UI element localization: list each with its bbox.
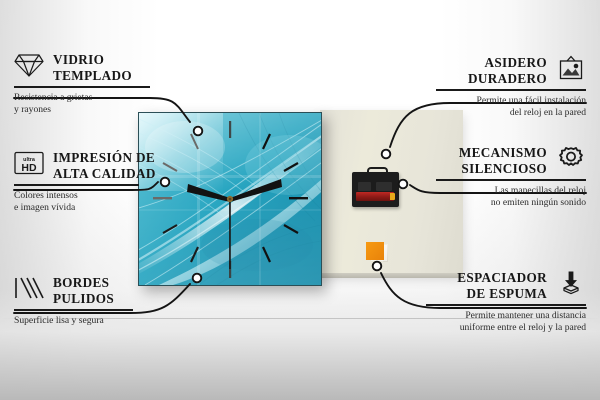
feature-title-line1: ASIDERO xyxy=(468,55,547,71)
feature-divider xyxy=(426,304,586,306)
feature-desc-line1: Superficie lisa y segura xyxy=(14,315,164,327)
feature-divider xyxy=(436,89,586,91)
feature-title-line1: BORDES xyxy=(53,275,114,291)
connector-dot-vidrio-templado xyxy=(194,127,203,136)
connector-dot-mecanismo xyxy=(399,180,408,189)
polished-edges-icon xyxy=(14,275,44,306)
feature-divider xyxy=(14,309,133,311)
feature-title-line2: DE ESPUMA xyxy=(457,286,547,302)
ultra-hd-icon: ultra HD xyxy=(14,150,44,181)
feature-desc-line2: del reloj en la pared xyxy=(436,107,586,119)
feature-desc-line2: e imagen vívida xyxy=(14,202,164,214)
feature-title-line2: ALTA CALIDAD xyxy=(53,166,156,182)
feature-bordes-pulidos: BORDES PULIDOS Superficie lisa y segura xyxy=(14,275,164,327)
feature-title-line2: DURADERO xyxy=(468,71,547,87)
feature-heading: BORDES PULIDOS xyxy=(14,275,164,306)
wall-hanger-frame-icon xyxy=(556,55,586,86)
feature-title-line1: MECANISMO xyxy=(459,145,547,161)
feature-heading: VIDRIO TEMPLADO xyxy=(14,52,164,83)
feature-espaciador-de-espuma: ESPACIADOR DE ESPUMA Permite mantener un… xyxy=(426,270,586,334)
feature-title-line2: TEMPLADO xyxy=(53,68,132,84)
feature-heading: MECANISMO SILENCIOSO xyxy=(436,145,586,176)
connector-dot-asidero xyxy=(382,150,391,159)
feature-title-line2: SILENCIOSO xyxy=(459,161,547,177)
feature-heading: ultra HD IMPRESIÓN DE ALTA CALIDAD xyxy=(14,150,164,181)
connector-dot-espaciador xyxy=(373,262,382,271)
foam-spacer-arrow-icon xyxy=(556,270,586,301)
gear-icon xyxy=(556,145,586,176)
feature-asidero-duradero: ASIDERO DURADERO Permite una fácil insta… xyxy=(436,55,586,119)
feature-desc-line2: no emiten ningún sonido xyxy=(436,197,586,209)
diamond-icon xyxy=(14,52,44,83)
svg-text:HD: HD xyxy=(21,162,37,174)
feature-desc-line1: Las manecillas del reloj xyxy=(436,185,586,197)
feature-divider xyxy=(14,184,139,186)
feature-impresion-alta-calidad: ultra HD IMPRESIÓN DE ALTA CALIDAD Color… xyxy=(14,150,164,214)
feature-title-line1: IMPRESIÓN DE xyxy=(53,150,156,166)
feature-heading: ESPACIADOR DE ESPUMA xyxy=(426,270,586,301)
feature-desc-line1: Permite una fácil instalación xyxy=(436,95,586,107)
feature-title-line1: VIDRIO xyxy=(53,52,132,68)
feature-title-line2: PULIDOS xyxy=(53,291,114,307)
feature-desc-line1: Colores intensos xyxy=(14,190,164,202)
feature-title-line1: ESPACIADOR xyxy=(457,270,547,286)
feature-divider xyxy=(14,86,150,88)
feature-mecanismo-silencioso: MECANISMO SILENCIOSO Las manecillas del … xyxy=(436,145,586,209)
feature-desc-line2: y rayones xyxy=(14,104,164,116)
infographic-canvas: VIDRIO TEMPLADO Resistencia a grietas y … xyxy=(0,0,600,400)
feature-divider xyxy=(436,179,586,181)
feature-heading: ASIDERO DURADERO xyxy=(436,55,586,86)
feature-desc-line1: Resistencia a grietas xyxy=(14,92,164,104)
feature-desc-line2: uniforme entre el reloj y la pared xyxy=(426,322,586,334)
feature-desc-line1: Permite mantener una distancia xyxy=(426,310,586,322)
feature-vidrio-templado: VIDRIO TEMPLADO Resistencia a grietas y … xyxy=(14,52,164,116)
connector-dot-bordes-pulidos xyxy=(193,274,202,283)
